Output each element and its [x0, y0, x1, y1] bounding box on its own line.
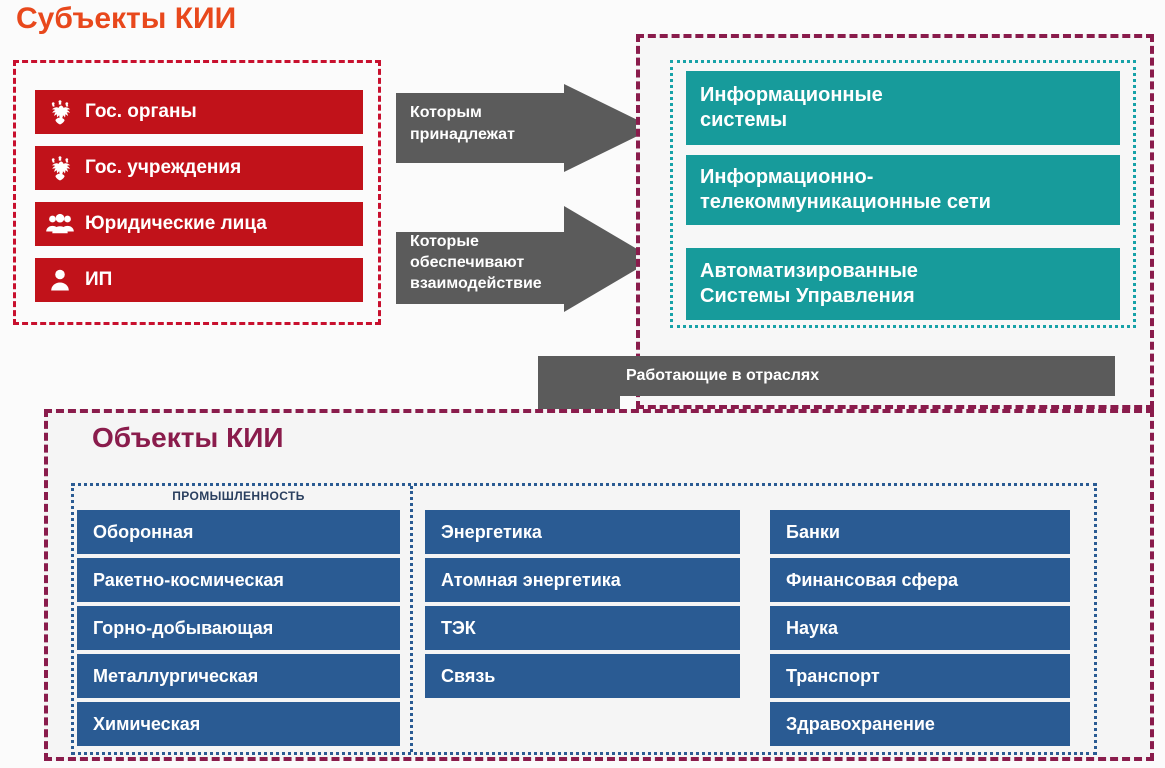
object-item-himicheskaya[interactable]: Химическая	[77, 702, 400, 746]
object-item-tek[interactable]: ТЭК	[425, 606, 740, 650]
coat-of-arms-icon	[45, 153, 75, 183]
banner-label: Работающие в отраслях	[626, 367, 819, 385]
system-label-line: системы	[700, 109, 787, 131]
subject-item-gos-organy[interactable]: Гос. органы	[35, 90, 363, 134]
arrow-label-line: Которые	[410, 231, 542, 252]
system-label-line: Автоматизированные	[700, 260, 918, 282]
subject-item-label: Гос. органы	[85, 101, 197, 123]
page-title-objects: Объекты КИИ	[92, 422, 283, 454]
object-item-label: Транспорт	[786, 666, 880, 687]
subject-item-label: Гос. учреждения	[85, 157, 241, 179]
coat-of-arms-icon	[45, 97, 75, 127]
object-item-oboronnaya[interactable]: Оборонная	[77, 510, 400, 554]
system-item-label: Автоматизированные Системы Управления	[700, 259, 918, 310]
arrow-label-line: взаимодействие	[410, 273, 542, 294]
objects-column-divider	[410, 486, 413, 752]
object-item-label: Химическая	[93, 714, 200, 735]
object-item-energetika[interactable]: Энергетика	[425, 510, 740, 554]
object-item-label: Наука	[786, 618, 838, 639]
object-item-transport[interactable]: Транспорт	[770, 654, 1070, 698]
object-item-label: Энергетика	[441, 522, 542, 543]
arrow-label-line: принадлежат	[410, 124, 515, 146]
object-item-label: Здравохранение	[786, 714, 935, 735]
system-label-line: Информационно-	[700, 166, 873, 188]
system-label-line: Информационные	[700, 84, 883, 106]
arrow-label-line: Которым	[410, 102, 515, 124]
banner-working-in-industries: Работающие в отраслях	[594, 356, 1115, 396]
subject-item-label: ИП	[85, 269, 112, 291]
object-item-zdravohranenie[interactable]: Здравохранение	[770, 702, 1070, 746]
system-label-line: Системы Управления	[700, 285, 915, 307]
system-item-label: Информационные системы	[700, 83, 883, 134]
object-item-label: Банки	[786, 522, 840, 543]
people-group-icon	[45, 209, 75, 239]
object-item-finansovaya-sfera[interactable]: Финансовая сфера	[770, 558, 1070, 602]
object-item-svyaz[interactable]: Связь	[425, 654, 740, 698]
subject-item-yuridicheskie-lica[interactable]: Юридические лица	[35, 202, 363, 246]
system-item-telecom-networks[interactable]: Информационно- телекоммуникационные сети	[686, 155, 1120, 225]
diagram-canvas: Субъекты КИИ Гос. органы	[0, 0, 1165, 768]
object-item-label: Связь	[441, 666, 495, 687]
system-item-automated-control-systems[interactable]: Автоматизированные Системы Управления	[686, 248, 1120, 320]
arrow-provides-interaction-label: Которые обеспечивают взаимодействие	[410, 231, 542, 294]
object-item-label: Атомная энергетика	[441, 570, 621, 591]
object-item-banki[interactable]: Банки	[770, 510, 1070, 554]
system-item-information-systems[interactable]: Информационные системы	[686, 71, 1120, 145]
arrow-label-line: обеспечивают	[410, 252, 542, 273]
objects-column-header-industry: ПРОМЫШЛЕННОСТЬ	[77, 489, 400, 503]
system-label-line: телекоммуникационные сети	[700, 191, 991, 213]
subject-item-ip[interactable]: ИП	[35, 258, 363, 302]
object-item-atomnaya-energetika[interactable]: Атомная энергетика	[425, 558, 740, 602]
subject-item-gos-uchrezhdeniya[interactable]: Гос. учреждения	[35, 146, 363, 190]
object-item-label: Финансовая сфера	[786, 570, 958, 591]
system-item-label: Информационно- телекоммуникационные сети	[700, 165, 991, 216]
person-icon	[45, 265, 75, 295]
object-item-label: Ракетно-космическая	[93, 570, 284, 591]
arrow-belongs-to-label: Которым принадлежат	[410, 102, 515, 145]
object-item-metallurgicheskaya[interactable]: Металлургическая	[77, 654, 400, 698]
object-item-label: ТЭК	[441, 618, 476, 639]
object-item-raketno-kosmicheskaya[interactable]: Ракетно-космическая	[77, 558, 400, 602]
object-item-nauka[interactable]: Наука	[770, 606, 1070, 650]
object-item-label: Металлургическая	[93, 666, 258, 687]
page-title-subjects: Субъекты КИИ	[16, 2, 236, 36]
object-item-label: Горно-добывающая	[93, 618, 273, 639]
object-item-label: Оборонная	[93, 522, 193, 543]
object-item-gorno-dobyvayushchaya[interactable]: Горно-добывающая	[77, 606, 400, 650]
subject-item-label: Юридические лица	[85, 213, 267, 235]
